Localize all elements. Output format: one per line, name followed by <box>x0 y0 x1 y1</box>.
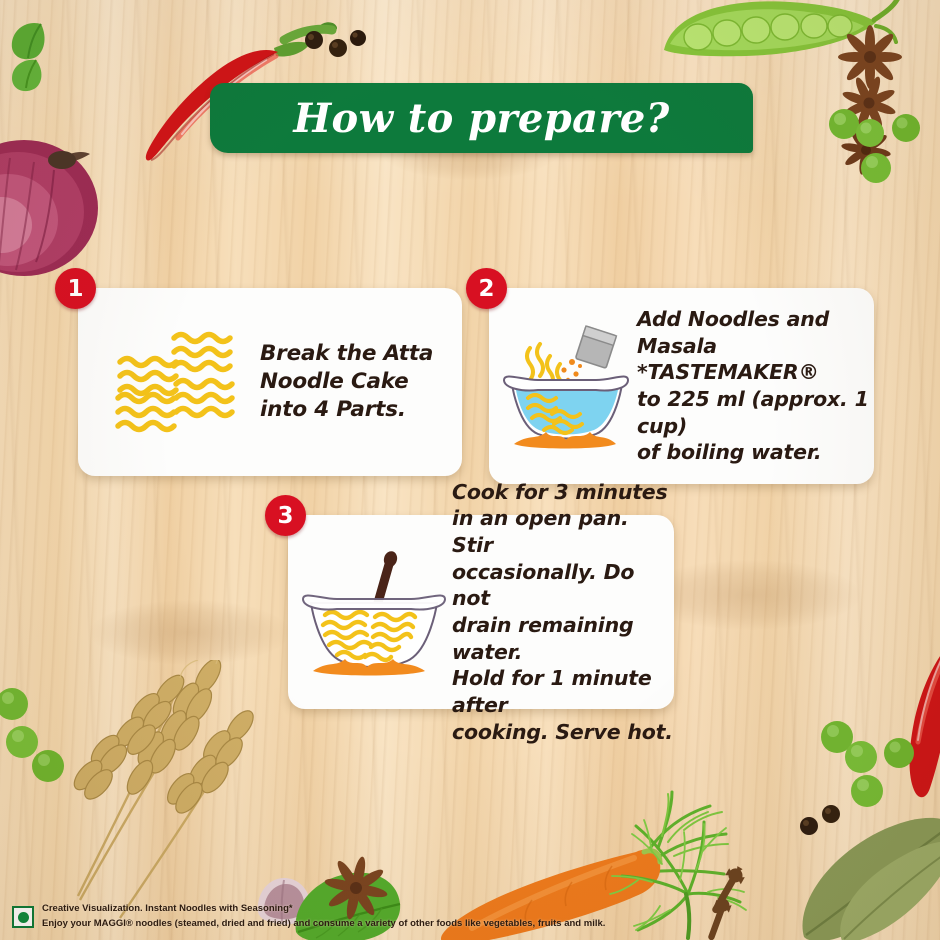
step-text-line: Noodle Cake <box>260 368 433 396</box>
wood-knot <box>90 600 290 665</box>
step-text-3: Cook for 3 minutes in an open pan. Stir … <box>452 479 674 745</box>
step-text-line: of boiling water. <box>637 439 874 466</box>
red-onion <box>0 130 118 280</box>
page-title: How to prepare? <box>293 95 669 142</box>
footer-line-1: Creative Visualization. Instant Noodles … <box>42 902 605 917</box>
noodle-cake-icon <box>110 326 250 438</box>
step-text-line: Hold for 1 minute after <box>452 665 674 718</box>
footer-text: Creative Visualization. Instant Noodles … <box>42 902 605 931</box>
step-text-line: drain remaining water. <box>452 612 674 665</box>
step-card-1[interactable]: 1 <box>78 288 462 476</box>
green-peas <box>820 100 940 190</box>
green-peas <box>815 715 925 810</box>
step-text-line: Break the Atta <box>260 340 433 368</box>
step-text-line: occasionally. Do not <box>452 559 674 612</box>
step-badge-1: 1 <box>55 268 96 309</box>
step-badge-2: 2 <box>466 268 507 309</box>
step-card-3[interactable]: 3 <box>288 515 674 709</box>
step-text-line: Masala *TASTEMAKER® <box>637 333 874 386</box>
poster-canvas: How to prepare? 1 <box>0 0 940 940</box>
step-text-line: Add Noodles and <box>637 306 874 333</box>
bowl-with-sachet-icon <box>497 322 633 450</box>
footer-disclaimer: Creative Visualization. Instant Noodles … <box>0 894 940 940</box>
footer-line-2: Enjoy your MAGGI® noodles (steamed, drie… <box>42 917 605 932</box>
vegetarian-mark-icon <box>12 906 34 928</box>
vegetarian-dot <box>18 912 29 923</box>
title-banner: How to prepare? <box>210 83 753 153</box>
step-text-line: into 4 Parts. <box>260 396 433 424</box>
step-text-line: Cook for 3 minutes <box>452 479 674 506</box>
step-text-2: Add Noodles and Masala *TASTEMAKER® to 2… <box>637 306 874 466</box>
bowl-with-spoon-icon <box>298 545 450 679</box>
step-text-1: Break the Atta Noodle Cake into 4 Parts. <box>260 340 433 424</box>
step-text-line: in an open pan. Stir <box>452 505 674 558</box>
step-text-line: to 225 ml (approx. 1 cup) <box>637 386 874 439</box>
step-text-line: cooking. Serve hot. <box>452 719 674 746</box>
peppercorns <box>300 24 370 64</box>
basil-leaves <box>8 18 78 98</box>
step-badge-3: 3 <box>265 495 306 536</box>
green-peas <box>0 680 80 790</box>
step-card-2[interactable]: 2 <box>489 288 874 484</box>
